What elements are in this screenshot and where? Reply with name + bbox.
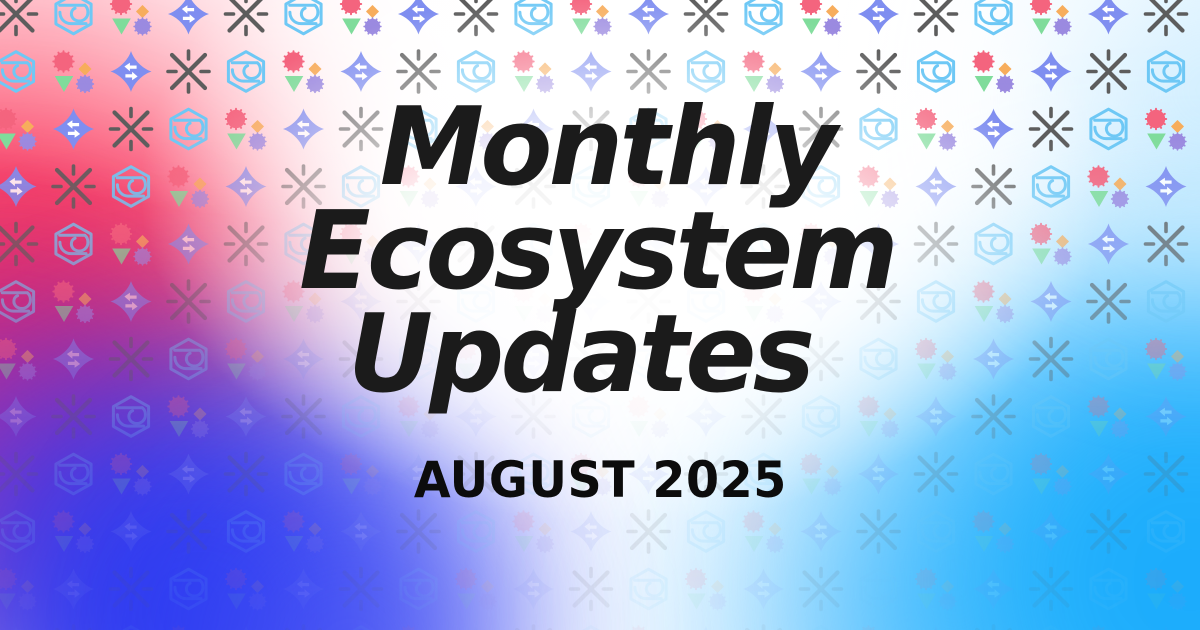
asterisk-icon (743, 166, 784, 207)
hexagon-spiral-icon (516, 0, 551, 34)
asterisk-icon (226, 0, 267, 35)
asterisk-icon (916, 0, 957, 35)
four-shapes-icon (52, 280, 94, 323)
starburst-purple-shape (536, 305, 554, 323)
diamond-swap-icon (1146, 626, 1187, 630)
asterisk-icon (111, 339, 152, 380)
asterisk-icon (801, 109, 842, 150)
hexagon-spiral-icon (746, 0, 781, 34)
hexagon-spiral-icon (746, 454, 781, 494)
diamond-swap-icon (858, 224, 899, 265)
diamond-orange-shape (999, 63, 1012, 76)
starburst-purple-shape (1053, 477, 1071, 495)
triangle-green-shape (400, 191, 419, 207)
diamond-orange-shape (481, 580, 494, 593)
four-shapes-icon (282, 280, 324, 323)
hexagon-spiral-icon (401, 109, 436, 149)
triangle-green-shape (1147, 364, 1166, 380)
starburst-pink-shape (742, 510, 764, 532)
diamond-swap-icon (801, 51, 842, 92)
asterisk-icon (226, 224, 267, 265)
four-shapes-icon (570, 453, 612, 496)
asterisk-icon (858, 281, 899, 322)
four-shapes-icon (685, 568, 727, 611)
four-shapes-icon (52, 280, 94, 323)
starburst-pink-shape (512, 280, 534, 302)
starburst-purple-shape (996, 75, 1014, 93)
diamond-orange-shape (1114, 178, 1127, 191)
asterisk-icon (1146, 454, 1187, 495)
starburst-purple-shape (76, 535, 94, 553)
four-shapes-icon (857, 625, 899, 630)
four-shapes-icon (915, 108, 957, 151)
asterisk-icon (973, 396, 1014, 437)
hexagon-spiral-icon (401, 569, 436, 609)
four-shapes-icon (0, 568, 37, 611)
diamond-swap-icon (1031, 511, 1072, 552)
four-shapes-icon (627, 395, 669, 438)
asterisk-icon (628, 281, 669, 322)
starburst-purple-shape (651, 190, 669, 208)
triangle-green-shape (1032, 19, 1051, 35)
diamond-swap-icon (686, 396, 727, 437)
hexagon-spiral-icon (1148, 282, 1183, 322)
diamond-swap-icon (456, 166, 497, 207)
hexagon-spiral-icon (56, 224, 91, 264)
four-shapes-icon (800, 453, 842, 496)
hexagon-spiral-icon (1148, 52, 1183, 92)
four-shapes-icon (685, 568, 727, 611)
four-shapes-icon (110, 453, 152, 496)
four-shapes-icon (455, 568, 497, 611)
diamond-swap-icon (916, 396, 957, 437)
diamond-swap-icon (686, 166, 727, 207)
hexagon-spiral-icon (918, 512, 953, 552)
diamond-orange-shape (884, 408, 897, 421)
diamond-swap-icon (801, 281, 842, 322)
hexagon-spiral-icon (343, 167, 378, 207)
starburst-pink-shape (225, 568, 247, 590)
starburst-pink-shape (397, 395, 419, 417)
hexagon-spiral-icon (861, 339, 896, 379)
hexagon-spiral-icon (286, 224, 321, 264)
hexagon-spiral-icon (401, 569, 436, 609)
triangle-green-shape (0, 134, 16, 150)
hexagon-spiral-icon (228, 52, 263, 92)
asterisk-icon (53, 166, 94, 207)
four-shapes-icon (915, 108, 957, 151)
diamond-orange-shape (309, 523, 322, 536)
hexagon-spiral-icon (1148, 282, 1183, 322)
hexagon-spiral-icon (746, 224, 781, 264)
asterisk-icon (226, 224, 267, 265)
asterisk-icon (571, 339, 612, 380)
starburst-purple-shape (18, 362, 36, 380)
hexagon-spiral-icon (688, 52, 723, 92)
asterisk-icon (686, 454, 727, 495)
four-shapes-icon (340, 0, 382, 36)
hexagon-spiral-icon (458, 52, 493, 92)
four-shapes-icon (512, 50, 554, 93)
four-shapes-icon (455, 338, 497, 381)
asterisk-icon (398, 281, 439, 322)
diamond-swap-icon (628, 0, 669, 35)
diamond-swap-icon (111, 51, 152, 92)
diamond-swap-icon (226, 166, 267, 207)
hexagon-spiral-icon (56, 224, 91, 264)
asterisk-icon (513, 166, 554, 207)
starburst-pink-shape (800, 453, 822, 475)
starburst-purple-shape (363, 247, 381, 265)
hexagon-spiral-icon (976, 224, 1011, 264)
diamond-swap-icon (1031, 51, 1072, 92)
triangle-green-shape (400, 421, 419, 437)
four-shapes-icon (397, 625, 439, 630)
four-shapes-icon (52, 510, 94, 553)
diamond-swap-icon (916, 396, 957, 437)
diamond-swap-icon (1088, 0, 1129, 35)
starburst-pink-shape (685, 108, 707, 130)
four-shapes-icon (972, 50, 1014, 93)
diamond-swap-icon (973, 569, 1014, 610)
asterisk-icon (456, 454, 497, 495)
triangle-green-shape (457, 364, 476, 380)
starburst-pink-shape (1030, 453, 1052, 475)
hexagon-spiral-icon (286, 454, 321, 494)
diamond-swap-icon (0, 166, 37, 207)
four-shapes-icon (857, 165, 899, 208)
starburst-pink-shape (627, 625, 649, 630)
starburst-pink-shape (167, 395, 189, 417)
diamond-swap-icon (168, 224, 209, 265)
triangle-green-shape (342, 479, 361, 495)
asterisk-icon (0, 454, 37, 495)
four-shapes-icon (512, 510, 554, 553)
asterisk-icon (0, 0, 37, 35)
starburst-pink-shape (915, 338, 937, 360)
asterisk-icon (1031, 109, 1072, 150)
diamond-swap-icon (0, 626, 37, 630)
asterisk-icon (341, 569, 382, 610)
triangle-green-shape (630, 421, 649, 437)
diamond-swap-icon (53, 109, 94, 150)
four-shapes-icon (397, 165, 439, 208)
four-shapes-icon (1145, 338, 1187, 381)
hexagon-spiral-icon (286, 454, 321, 494)
diamond-orange-shape (21, 580, 34, 593)
asterisk-icon (801, 339, 842, 380)
diamond-orange-shape (826, 5, 839, 18)
hexagon-spiral-icon (976, 454, 1011, 494)
diamond-swap-icon (111, 51, 152, 92)
hexagon-spiral-icon (918, 512, 953, 552)
asterisk-icon (973, 166, 1014, 207)
diamond-swap-icon (341, 51, 382, 92)
starburst-pink-shape (627, 165, 649, 187)
hexagon-spiral-icon (573, 397, 608, 437)
asterisk-icon (801, 339, 842, 380)
asterisk-icon (686, 454, 727, 495)
four-shapes-icon (282, 50, 324, 93)
asterisk-icon (743, 396, 784, 437)
four-shapes-icon (972, 50, 1014, 93)
asterisk-icon (1088, 281, 1129, 322)
asterisk-icon (168, 511, 209, 552)
four-shapes-icon (915, 568, 957, 611)
four-shapes-icon (800, 223, 842, 266)
four-shapes-icon (742, 280, 784, 323)
asterisk-icon (916, 0, 957, 35)
diamond-swap-icon (916, 626, 957, 630)
hexagon-spiral-icon (343, 167, 378, 207)
starburst-purple-shape (1111, 420, 1129, 438)
four-shapes-icon (685, 108, 727, 151)
four-shapes-icon (1145, 568, 1187, 611)
diamond-swap-icon (53, 109, 94, 150)
diamond-swap-icon (168, 454, 209, 495)
asterisk-icon (858, 281, 899, 322)
four-shapes-icon (685, 338, 727, 381)
four-shapes-icon (1087, 395, 1129, 438)
asterisk-icon (973, 626, 1014, 630)
hexagon-spiral-icon (228, 282, 263, 322)
hexagon-spiral-icon (918, 282, 953, 322)
asterisk-icon (456, 224, 497, 265)
triangle-green-shape (1032, 249, 1051, 265)
triangle-green-shape (515, 76, 534, 92)
starburst-pink-shape (167, 625, 189, 630)
diamond-swap-icon (1088, 0, 1129, 35)
hexagon-spiral-icon (228, 52, 263, 92)
diamond-orange-shape (539, 523, 552, 536)
starburst-pink-shape (570, 453, 592, 475)
triangle-green-shape (112, 479, 131, 495)
triangle-green-shape (1147, 134, 1166, 150)
diamond-orange-shape (769, 523, 782, 536)
starburst-purple-shape (708, 362, 726, 380)
four-shapes-icon (800, 0, 842, 36)
diamond-swap-icon (628, 0, 669, 35)
starburst-pink-shape (282, 510, 304, 532)
starburst-purple-shape (593, 477, 611, 495)
four-shapes-icon (167, 625, 209, 630)
starburst-pink-shape (857, 625, 879, 630)
diamond-swap-icon (743, 569, 784, 610)
hexagon-spiral-icon (516, 454, 551, 494)
starburst-pink-shape (857, 395, 879, 417)
diamond-swap-icon (341, 281, 382, 322)
hexagon-spiral-icon (861, 339, 896, 379)
asterisk-icon (916, 454, 957, 495)
asterisk-icon (283, 396, 324, 437)
four-shapes-icon (570, 453, 612, 496)
four-shapes-icon (742, 280, 784, 323)
diamond-orange-shape (21, 350, 34, 363)
diamond-orange-shape (654, 178, 667, 191)
starburst-purple-shape (823, 17, 841, 35)
starburst-purple-shape (938, 362, 956, 380)
diamond-swap-icon (226, 626, 267, 630)
diamond-swap-icon (168, 0, 209, 35)
starburst-purple-shape (478, 362, 496, 380)
starburst-purple-shape (651, 420, 669, 438)
four-shapes-icon (512, 280, 554, 323)
diamond-swap-icon (1088, 454, 1129, 495)
asterisk-icon (456, 0, 497, 35)
triangle-green-shape (572, 19, 591, 35)
starburst-pink-shape (972, 510, 994, 532)
asterisk-icon (743, 396, 784, 437)
diamond-swap-icon (111, 511, 152, 552)
monthly-ecosystem-updates-banner: Monthly Ecosystem Updates AUGUST 2025 (0, 0, 1200, 630)
asterisk-icon (53, 396, 94, 437)
diamond-orange-shape (769, 63, 782, 76)
four-shapes-icon (110, 0, 152, 36)
hexagon-spiral-icon (688, 512, 723, 552)
four-shapes-icon (397, 625, 439, 630)
asterisk-icon (456, 0, 497, 35)
starburst-pink-shape (627, 395, 649, 417)
diamond-swap-icon (1031, 511, 1072, 552)
hexagon-spiral-icon (516, 224, 551, 264)
starburst-pink-shape (915, 108, 937, 130)
diamond-orange-shape (366, 235, 379, 248)
starburst-pink-shape (167, 165, 189, 187)
four-shapes-icon (800, 453, 842, 496)
asterisk-icon (456, 224, 497, 265)
hexagon-spiral-icon (861, 569, 896, 609)
diamond-swap-icon (226, 626, 267, 630)
triangle-green-shape (745, 76, 764, 92)
diamond-swap-icon (973, 109, 1014, 150)
diamond-swap-icon (1146, 396, 1187, 437)
asterisk-icon (1031, 569, 1072, 610)
asterisk-icon (628, 511, 669, 552)
diamond-swap-icon (513, 569, 554, 610)
asterisk-icon (1031, 109, 1072, 150)
asterisk-icon (571, 569, 612, 610)
diamond-swap-icon (283, 109, 324, 150)
asterisk-icon (628, 281, 669, 322)
hexagon-spiral-icon (631, 569, 666, 609)
diamond-orange-shape (194, 408, 207, 421)
hexagon-spiral-icon (688, 282, 723, 322)
four-shapes-icon (52, 50, 94, 93)
diamond-swap-icon (456, 396, 497, 437)
starburst-purple-shape (248, 592, 266, 610)
hexagon-spiral-icon (0, 512, 34, 552)
four-shapes-icon (800, 0, 842, 36)
asterisk-icon (686, 224, 727, 265)
starburst-purple-shape (363, 17, 381, 35)
triangle-green-shape (572, 479, 591, 495)
starburst-purple-shape (823, 247, 841, 265)
hexagon-spiral-icon (458, 512, 493, 552)
diamond-orange-shape (711, 120, 724, 133)
four-shapes-icon (167, 395, 209, 438)
diamond-swap-icon (743, 109, 784, 150)
diamond-orange-shape (769, 293, 782, 306)
diamond-swap-icon (686, 396, 727, 437)
hexagon-spiral-icon (0, 512, 34, 552)
four-shapes-icon (857, 395, 899, 438)
starburst-pink-shape (397, 625, 419, 630)
hexagon-spiral-icon (0, 282, 34, 322)
triangle-green-shape (112, 19, 131, 35)
diamond-swap-icon (858, 454, 899, 495)
diamond-orange-shape (21, 120, 34, 133)
hexagon-spiral-icon (1148, 512, 1183, 552)
triangle-green-shape (227, 134, 246, 150)
asterisk-icon (973, 166, 1014, 207)
starburst-pink-shape (1087, 165, 1109, 187)
hexagon-spiral-icon (516, 224, 551, 264)
four-shapes-icon (110, 0, 152, 36)
diamond-orange-shape (251, 350, 264, 363)
triangle-green-shape (860, 191, 879, 207)
diamond-swap-icon (168, 0, 209, 35)
diamond-swap-icon (283, 109, 324, 150)
triangle-green-shape (1032, 479, 1051, 495)
four-shapes-icon (397, 165, 439, 208)
hexagon-spiral-icon (516, 0, 551, 34)
starburst-pink-shape (340, 223, 362, 245)
diamond-orange-shape (309, 63, 322, 76)
triangle-green-shape (285, 306, 304, 322)
asterisk-icon (1031, 569, 1072, 610)
diamond-swap-icon (226, 396, 267, 437)
hexagon-spiral-icon (861, 109, 896, 149)
diamond-swap-icon (111, 511, 152, 552)
asterisk-icon (571, 569, 612, 610)
hexagon-spiral-icon (286, 0, 321, 34)
diamond-orange-shape (941, 120, 954, 133)
hexagon-spiral-icon (401, 339, 436, 379)
asterisk-icon (0, 224, 37, 265)
hexagon-spiral-icon (0, 52, 34, 92)
triangle-green-shape (55, 536, 74, 552)
starburst-pink-shape (742, 280, 764, 302)
starburst-purple-shape (478, 592, 496, 610)
triangle-green-shape (285, 76, 304, 92)
diamond-swap-icon (398, 454, 439, 495)
four-shapes-icon (627, 165, 669, 208)
starburst-pink-shape (800, 223, 822, 245)
diamond-swap-icon (973, 569, 1014, 610)
triangle-green-shape (170, 421, 189, 437)
diamond-orange-shape (1171, 350, 1184, 363)
starburst-purple-shape (593, 247, 611, 265)
starburst-pink-shape (1145, 338, 1167, 360)
diamond-swap-icon (743, 569, 784, 610)
diamond-orange-shape (366, 5, 379, 18)
triangle-green-shape (1090, 191, 1109, 207)
diamond-orange-shape (366, 465, 379, 478)
four-shapes-icon (1145, 338, 1187, 381)
hexagon-spiral-icon (861, 569, 896, 609)
triangle-green-shape (745, 536, 764, 552)
diamond-swap-icon (858, 0, 899, 35)
triangle-green-shape (860, 421, 879, 437)
diamond-swap-icon (226, 166, 267, 207)
starburst-purple-shape (708, 592, 726, 610)
triangle-green-shape (55, 306, 74, 322)
triangle-green-shape (1147, 594, 1166, 610)
hexagon-spiral-icon (918, 282, 953, 322)
triangle-green-shape (0, 364, 16, 380)
hexagon-spiral-icon (1091, 339, 1126, 379)
asterisk-icon (686, 0, 727, 35)
